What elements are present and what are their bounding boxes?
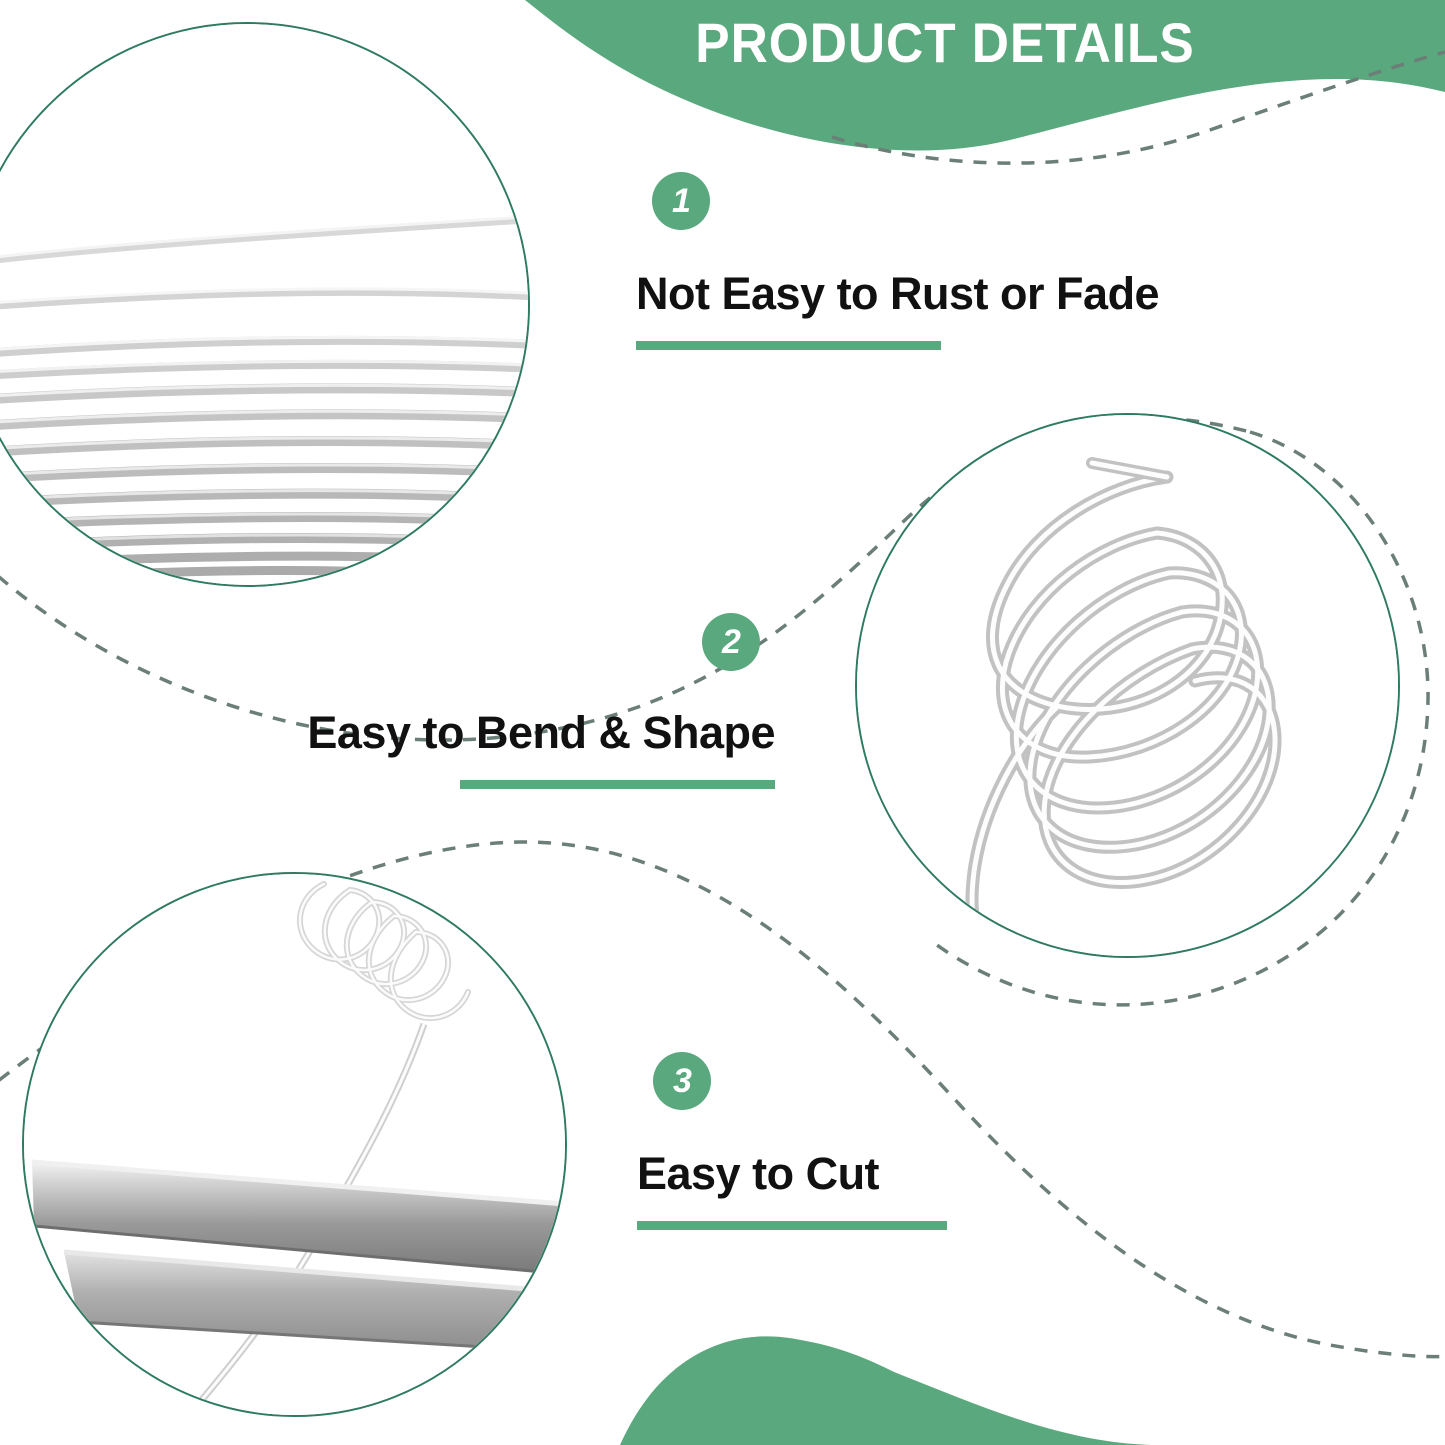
feature-underline-3 — [637, 1221, 947, 1230]
feature-underline-1 — [636, 341, 941, 350]
page-title: PRODUCT DETAILS — [651, 10, 1240, 75]
text-layer: PRODUCT DETAILS 1 Not Easy to Rust or Fa… — [0, 0, 1445, 1445]
feature-block-2: 2 Easy to Bend & Shape — [0, 613, 775, 789]
product-details-infographic: PRODUCT DETAILS 1 Not Easy to Rust or Fa… — [0, 0, 1445, 1445]
step-badge-3: 3 — [653, 1052, 711, 1110]
feature-block-1: 1 Not Easy to Rust or Fade — [636, 172, 1159, 350]
feature-title-2: Easy to Bend & Shape — [0, 707, 775, 759]
feature-title-3: Easy to Cut — [637, 1148, 947, 1200]
step-badge-1: 1 — [652, 172, 710, 230]
feature-underline-2 — [460, 780, 775, 789]
feature-block-3: 3 Easy to Cut — [637, 1052, 947, 1230]
step-badge-2: 2 — [702, 613, 760, 671]
feature-title-1: Not Easy to Rust or Fade — [636, 268, 1159, 320]
